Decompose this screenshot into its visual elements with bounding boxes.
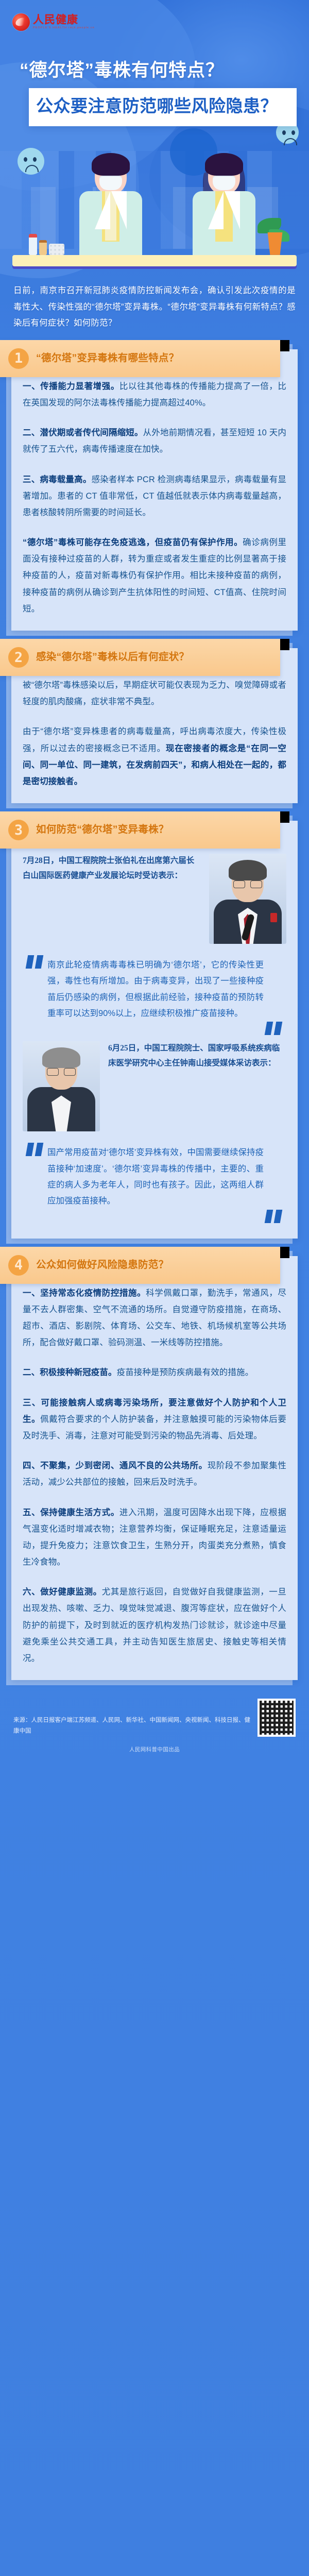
expert-intro: 6月25日，中国工程院院士、国家呼吸系统疾病临床医学研究中心主任钟南山接受媒体采…	[108, 1041, 286, 1071]
pill-blister-icon	[49, 244, 64, 255]
virus-icon	[18, 148, 44, 175]
footer-sources: 来源：人民日报客户端江苏频道、人民网、新华社、中国新闻网、央视新闻、科技日报、健…	[13, 1715, 251, 1737]
paragraph: “德尔塔”毒株可能存在免疫逃逸，但疫苗仍有保护作用。确诊病例里面没有接种过疫苗的…	[23, 534, 286, 617]
section-2-body: 被“德尔塔”毒株感染以后，早期症状可能仅表现为乏力、嗅觉障碍或者轻度的肌肉酸痛，…	[23, 677, 286, 790]
doctor-hair	[92, 153, 130, 176]
logo-title: 人民健康	[33, 14, 95, 25]
paragraph-text: 尤其是旅行返回，自觉做好自我健康监测，一旦出现发热、咳嗽、乏力、嗅觉味觉减退、腹…	[23, 1587, 286, 1663]
face-mask-icon	[213, 176, 235, 190]
paragraph-lead: 一、传播能力显著增强。	[23, 382, 119, 391]
section-title: “德尔塔”变异毒株有哪些特点？	[36, 352, 179, 365]
paragraph: 由于“德尔塔”变异株患者的病毒载量高，呼出病毒浓度大，传染性极强，所以过去的密接…	[23, 723, 286, 790]
expert-intro: 7月28日，中国工程院院士张伯礼在出席第六届长白山国际医药健康产业发展论坛时受访…	[23, 854, 201, 883]
section-number-badge: 2	[8, 647, 29, 668]
section-title: 公众如何做好风险隐患防范？	[36, 1259, 168, 1272]
logo-subtitle: PEOPLE'S HEALTH rmjk.people.cn	[33, 27, 95, 30]
ribbon-corner	[280, 340, 289, 350]
medicine-bottle-icon	[29, 234, 37, 255]
quote-body: 国产常用疫苗对‘德尔塔’变异株有效，中国需要继续保持疫苗接种‘加速度’。‘德尔塔…	[47, 1148, 264, 1206]
doctor-head	[208, 158, 240, 194]
paragraph-lead: 一、坚持常态化疫情防控措施。	[23, 1289, 146, 1298]
name-badge-icon	[270, 913, 277, 922]
section-title: 感染“德尔塔”毒株以后有何症状？	[36, 651, 189, 664]
coat-lapel	[225, 191, 240, 229]
coat-lapel	[208, 191, 224, 229]
section-2-header: 2 感染“德尔塔”毒株以后有何症状？	[0, 639, 280, 676]
expert-quote-2: 6月25日，中国工程院院士、国家呼吸系统疾病临床医学研究中心主任钟南山接受媒体采…	[23, 1041, 286, 1225]
paragraph-lead: 二、潜伏期或者传代间隔缩短。	[23, 428, 143, 437]
doctor-head	[95, 158, 127, 194]
section-3: 3 如何防范“德尔塔”变异毒株？ 7月28日，中国工程院院士张伯礼在出席第六届长…	[11, 821, 298, 1239]
paragraph: 六、做好健康监测。尤其是旅行返回，自觉做好自我健康监测，一旦出现发热、咳嗽、乏力…	[23, 1584, 286, 1667]
expert-quote-1: 7月28日，中国工程院院士张伯礼在出席第六届长白山国际医药健康产业发展论坛时受访…	[23, 854, 286, 1037]
paragraph: 一、坚持常态化疫情防控措施。科学佩戴口罩，勤洗手，常通风，尽量不去人群密集、空气…	[23, 1285, 286, 1351]
quote-body: 南京此轮疫情病毒毒株已明确为‘德尔塔’，它的传染性更强，毒性也有所增加。由于病毒…	[47, 960, 264, 1018]
section-2: 2 感染“德尔塔”毒株以后有何症状？ 被“德尔塔”毒株感染以后，早期症状可能仅表…	[11, 648, 298, 803]
paragraph-lead: 三、病毒载量高。	[23, 475, 92, 484]
section-4-body: 一、坚持常态化疫情防控措施。科学佩戴口罩，勤洗手，常通风，尽量不去人群密集、空气…	[23, 1285, 286, 1667]
expert-portrait-zhongnanshan	[23, 1041, 100, 1131]
section-1: 1 “德尔塔”变异毒株有哪些特点？ 一、传播能力显著增强。比以往其他毒株的传播能…	[11, 349, 298, 631]
section-2-card: 2 感染“德尔塔”毒株以后有何症状？ 被“德尔塔”毒株感染以后，早期症状可能仅表…	[11, 648, 298, 803]
paragraph: 二、潜伏期或者传代间隔缩短。从外地前期情况看，甚至短短 10 天内就传了五六代，…	[23, 425, 286, 457]
paragraph-text: 疫苗接种是预防疾病最有效的措施。	[117, 1368, 254, 1377]
doctor-male-illustration	[77, 158, 144, 257]
section-3-card: 3 如何防范“德尔塔”变异毒株？ 7月28日，中国工程院院士张伯礼在出席第六届长…	[11, 821, 298, 1239]
face-mask-icon	[99, 176, 122, 190]
section-number-badge: 3	[8, 820, 29, 840]
expert-row: 6月25日，中国工程院院士、国家呼吸系统疾病临床医学研究中心主任钟南山接受媒体采…	[23, 1041, 286, 1131]
paragraph: 被“德尔塔”毒株感染以后，早期症状可能仅表现为乏力、嗅觉障碍或者轻度的肌肉酸痛，…	[23, 677, 286, 710]
doctor-female-illustration	[191, 158, 257, 257]
paragraph-lead: 二、积极接种新冠疫苗。	[23, 1368, 117, 1377]
quote-open-icon	[27, 955, 45, 969]
page-title-secondary: 公众要注意防范哪些风险隐患？	[36, 95, 288, 117]
section-4-header: 4 公众如何做好风险隐患防范？	[0, 1247, 280, 1284]
quote-open-icon	[27, 1143, 45, 1156]
infographic-page: 人民健康 PEOPLE'S HEALTH rmjk.people.cn “德尔塔…	[0, 0, 309, 2576]
section-1-body: 一、传播能力显著增强。比以往其他毒株的传播能力提高了一倍，比在英国发现的阿尔法毒…	[23, 378, 286, 617]
paragraph-lead: “德尔塔”毒株可能存在免疫逃逸，但疫苗仍有保护作用。	[23, 538, 243, 547]
paragraph: 三、可能接触病人或病毒污染场所，要注意做好个人防护和个人卫生。佩戴符合要求的个人…	[23, 1395, 286, 1445]
quote-close-icon	[266, 1022, 284, 1035]
section-4-card: 4 公众如何做好风险隐患防范？ 一、坚持常态化疫情防控措施。科学佩戴口罩，勤洗手…	[11, 1256, 298, 1680]
virus-icon	[276, 123, 299, 144]
expert-row: 7月28日，中国工程院院士张伯礼在出席第六届长白山国际医药健康产业发展论坛时受访…	[23, 854, 286, 944]
section-1-card: 1 “德尔塔”变异毒株有哪些特点？ 一、传播能力显著增强。比以往其他毒株的传播能…	[11, 349, 298, 631]
medicine-jar-icon	[39, 240, 47, 255]
ribbon-corner	[280, 811, 289, 822]
paragraph: 三、病毒载量高。感染者样本 PCR 检测病毒结果显示，病毒载量有显著增加。患者的…	[23, 471, 286, 521]
footer: 来源：人民日报客户端江苏频道、人民网、新华社、中国新闻网、央视新闻、科技日报、健…	[13, 1699, 296, 1772]
qr-code-pattern	[260, 1701, 294, 1735]
section-number-badge: 1	[8, 348, 29, 369]
portrait-hair	[42, 1047, 80, 1068]
paragraph: 二、积极接种新冠疫苗。疫苗接种是预防疾病最有效的措施。	[23, 1364, 286, 1381]
intro-paragraph: 日前，南京市召开新冠肺炎疫情防控新闻发布会，确认引发此次疫情的是毒性大、传染性强…	[13, 283, 296, 332]
paragraph: 五、保持健康生活方式。进入汛期，温度可因降水出现下降，应根据气温变化适时增减衣物…	[23, 1504, 286, 1571]
paragraph: 一、传播能力显著增强。比以往其他毒株的传播能力提高了一倍，比在英国发现的阿尔法毒…	[23, 378, 286, 411]
expert-portrait-zhangboli	[209, 854, 286, 944]
doctor-coat	[79, 191, 142, 257]
portrait-hair	[229, 860, 267, 880]
desk-graphic	[12, 255, 297, 266]
ribbon-corner	[280, 639, 289, 649]
glasses-icon	[47, 1068, 76, 1075]
section-1-header: 1 “德尔塔”变异毒株有哪些特点？	[0, 340, 280, 377]
paragraph-text: 被“德尔塔”毒株感染以后，早期症状可能仅表现为乏力、嗅觉障碍或者轻度的肌肉酸痛，…	[23, 681, 286, 706]
expert-quote-text: 国产常用疫苗对‘德尔塔’变异株有效，中国需要继续保持疫苗接种‘加速度’。‘德尔塔…	[23, 1143, 286, 1225]
coat-lapel	[95, 191, 110, 229]
page-title-panel: 公众要注意防范哪些风险隐患？	[29, 88, 297, 126]
paragraph-text: 佩戴符合要求的个人防护装备，并注意触摸可能的污染物体后要及时洗手、消毒，注意对可…	[23, 1415, 286, 1440]
footer-credit: 人民网科普中国出品	[13, 1745, 296, 1755]
coat-lapel	[111, 191, 127, 229]
section-number-badge: 4	[8, 1255, 29, 1276]
medicine-group	[29, 234, 64, 255]
paragraph: 四、不聚集，少到密闭、通风不良的公共场所。现阶段不参加聚集性活动，减少公共部位的…	[23, 1458, 286, 1490]
glasses-icon	[233, 880, 262, 887]
doctor-coat	[193, 191, 255, 257]
paragraph-text: 确诊病例里面没有接种过疫苗的人群，转为重症或者发生重症的比例显著高于接种疫苗的人…	[23, 538, 286, 614]
expert-quote-text: 南京此轮疫情病毒毒株已明确为‘德尔塔’，它的传染性更强，毒性也有所增加。由于病毒…	[23, 955, 286, 1037]
paragraph-lead: 四、不聚集，少到密闭、通风不良的公共场所。	[23, 1461, 208, 1470]
page-title-primary: “德尔塔”毒株有何特点？	[20, 60, 309, 82]
section-3-header: 3 如何防范“德尔塔”变异毒株？	[0, 811, 280, 849]
paragraph-lead: 五、保持健康生活方式。	[23, 1508, 119, 1517]
footer-row: 来源：人民日报客户端江苏频道、人民网、新华社、中国新闻网、央视新闻、科技日报、健…	[13, 1699, 296, 1737]
section-title: 如何防范“德尔塔”变异毒株？	[36, 823, 169, 837]
qr-code[interactable]	[257, 1699, 296, 1737]
ribbon-corner	[280, 1247, 289, 1257]
hero-illustration	[0, 123, 309, 278]
quote-close-icon	[266, 1210, 284, 1223]
logo-emblem-icon	[12, 13, 30, 31]
section-4: 4 公众如何做好风险隐患防范？ 一、坚持常态化疫情防控措施。科学佩戴口罩，勤洗手…	[11, 1256, 298, 1680]
site-logo[interactable]: 人民健康 PEOPLE'S HEALTH rmjk.people.cn	[12, 13, 95, 31]
paragraph-lead: 六、做好健康监测。	[23, 1587, 102, 1597]
doctor-hair	[205, 153, 243, 176]
logo-text: 人民健康 PEOPLE'S HEALTH rmjk.people.cn	[33, 14, 95, 30]
